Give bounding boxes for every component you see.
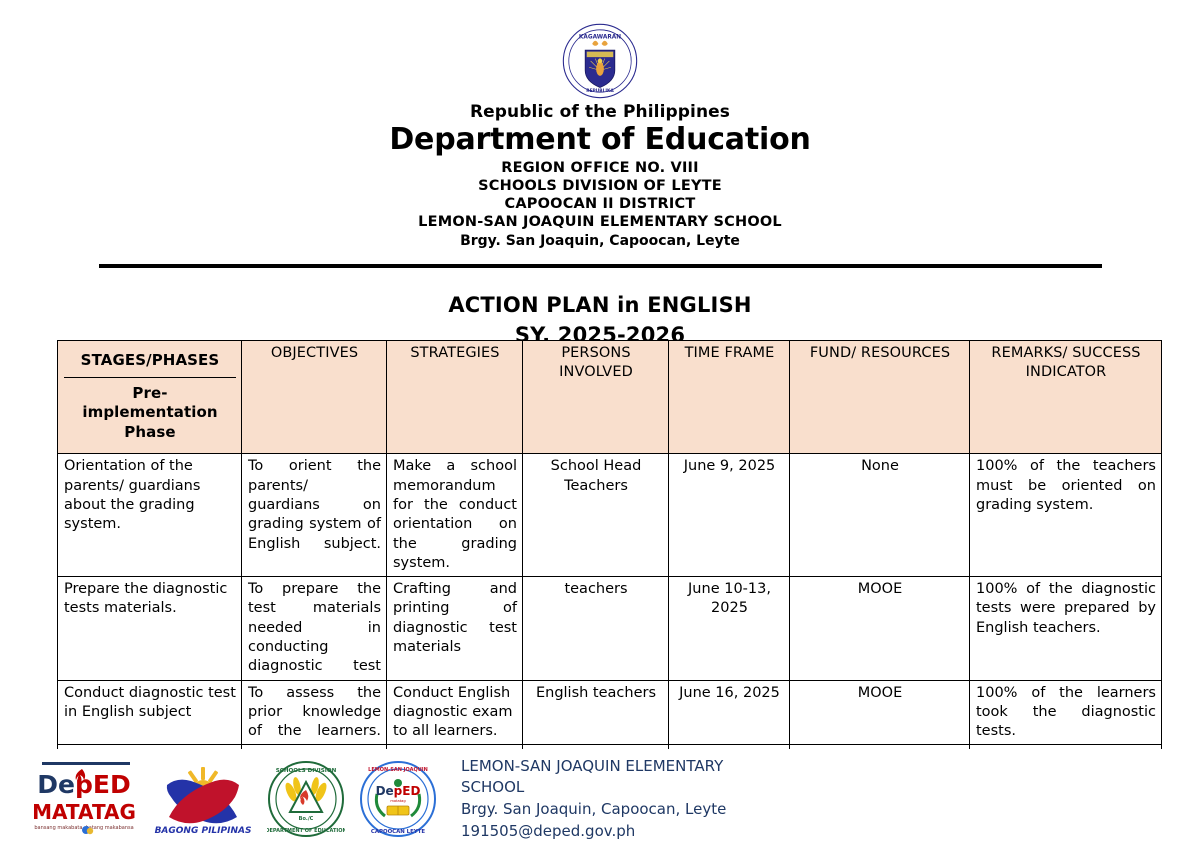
cell-strategy: Make a school memorandum for the conduct… [387, 454, 523, 577]
column-header-time-frame: TIME FRAME [669, 341, 790, 454]
cell-objective: To orient the parents/ guardians on grad… [242, 454, 387, 577]
cell-time: June 10-13, 2025 [669, 577, 790, 680]
svg-text:BAGONG PILIPINAS: BAGONG PILIPINAS [155, 826, 252, 836]
bagong-pilipinas-logo-icon: BAGONG PILIPINAS [153, 759, 253, 839]
plan-title-line1: ACTION PLAN in ENGLISH [0, 290, 1200, 320]
capoocan-leyte-district-seal-icon: LEMON-SAN JOAQUIN CAPOOCAN LEYTE DepED m… [359, 760, 437, 838]
cell-stage: Prepare the diagnostic tests materials. [58, 577, 242, 680]
column-header-objectives: OBJECTIVES [242, 341, 387, 454]
svg-text:MATATAG: MATATAG [34, 800, 136, 824]
table-row: Prepare the diagnostic tests materials. … [58, 577, 1162, 680]
cell-remarks: 100% of the diagnostic tests were prepar… [970, 577, 1162, 680]
footer-logos: DepED MATATAG bansang makabata, batang m… [34, 759, 437, 839]
school-line: LEMON-SAN JOAQUIN ELEMENTARY SCHOOL [0, 213, 1200, 231]
address-line: Brgy. San Joaquin, Capoocan, Leyte [0, 232, 1200, 250]
action-plan-table-wrap: STAGES/PHASES Pre-implementation Phase O… [57, 340, 1161, 768]
cell-persons: English teachers [523, 680, 669, 745]
cell-objective: To assess the prior knowledge of the lea… [242, 680, 387, 745]
column-header-stages: STAGES/PHASES Pre-implementation Phase [58, 341, 242, 454]
column-header-fund-resources: FUND/ RESOURCES [790, 341, 970, 454]
cell-time: June 16, 2025 [669, 680, 790, 745]
column-header-persons-involved: PERSONS INVOLVED [523, 341, 669, 454]
district-line: CAPOOCAN II DISTRICT [0, 195, 1200, 213]
page-footer: DepED MATATAG bansang makabata, batang m… [0, 749, 1200, 849]
table-header-row: STAGES/PHASES Pre-implementation Phase O… [58, 341, 1162, 454]
cell-remarks: 100% of the teachers must be oriented on… [970, 454, 1162, 577]
cell-persons: teachers [523, 577, 669, 680]
table-row: Conduct diagnostic test in English subje… [58, 680, 1162, 745]
svg-text:CAPOOCAN LEYTE: CAPOOCAN LEYTE [371, 829, 425, 835]
cell-strategy: Conduct English diagnostic exam to all l… [387, 680, 523, 745]
schools-division-leyte-seal-icon: SCHOOLS DIVISION DEPARTMENT OF EDUCATION… [267, 760, 345, 838]
cell-fund: MOOE [790, 577, 970, 680]
svg-text:LEMON-SAN JOAQUIN: LEMON-SAN JOAQUIN [368, 767, 428, 773]
cell-objective: To prepare the test materials needed in … [242, 577, 387, 680]
column-header-remarks: REMARKS/ SUCCESS INDICATOR [970, 341, 1162, 454]
department-line: Department of Education [0, 122, 1200, 159]
pre-implementation-phase-label: Pre-implementation Phase [64, 378, 236, 451]
svg-text:REPUBLIKA: REPUBLIKA [586, 88, 614, 94]
footer-email: 191505@deped.gov.ph [461, 821, 726, 843]
region-line: REGION OFFICE NO. VIII [0, 159, 1200, 177]
svg-text:matatag: matatag [390, 799, 405, 803]
footer-school-info: LEMON-SAN JOAQUIN ELEMENTARY SCHOOL Brgy… [461, 756, 726, 843]
column-header-strategies: STRATEGIES [387, 341, 523, 454]
stages-phases-label: STAGES/PHASES [64, 344, 236, 378]
svg-text:Bo./C: Bo./C [299, 816, 314, 822]
action-plan-table-body: Orientation of the parents/ guardians ab… [58, 454, 1162, 767]
deped-seal-icon: KAGAWARAN REPUBLIKA [561, 22, 639, 100]
republic-line: Republic of the Philippines [0, 102, 1200, 123]
cell-strategy: Crafting and printing of diagnostic test… [387, 577, 523, 680]
cell-stage: Orientation of the parents/ guardians ab… [58, 454, 242, 577]
footer-line-1: LEMON-SAN JOAQUIN ELEMENTARY [461, 756, 726, 778]
footer-line-2: SCHOOL [461, 777, 726, 799]
svg-text:DEPARTMENT OF EDUCATION: DEPARTMENT OF EDUCATION [267, 828, 345, 834]
table-row: Orientation of the parents/ guardians ab… [58, 454, 1162, 577]
cell-remarks: 100% of the learners took the diagnostic… [970, 680, 1162, 745]
svg-text:KAGAWARAN: KAGAWARAN [579, 34, 621, 40]
cell-fund: None [790, 454, 970, 577]
division-line: SCHOOLS DIVISION OF LEYTE [0, 177, 1200, 195]
cell-stage: Conduct diagnostic test in English subje… [58, 680, 242, 745]
svg-text:SCHOOLS DIVISION: SCHOOLS DIVISION [276, 768, 337, 774]
cell-persons: School Head Teachers [523, 454, 669, 577]
header-divider [99, 264, 1102, 268]
letterhead: KAGAWARAN REPUBLIKA Republic of the Phil… [0, 0, 1200, 268]
footer-line-3: Brgy. San Joaquin, Capoocan, Leyte [461, 799, 726, 821]
deped-matatag-logo-icon: DepED MATATAG bansang makabata, batang m… [34, 759, 139, 839]
action-plan-table: STAGES/PHASES Pre-implementation Phase O… [57, 340, 1162, 768]
cell-time: June 9, 2025 [669, 454, 790, 577]
cell-fund: MOOE [790, 680, 970, 745]
